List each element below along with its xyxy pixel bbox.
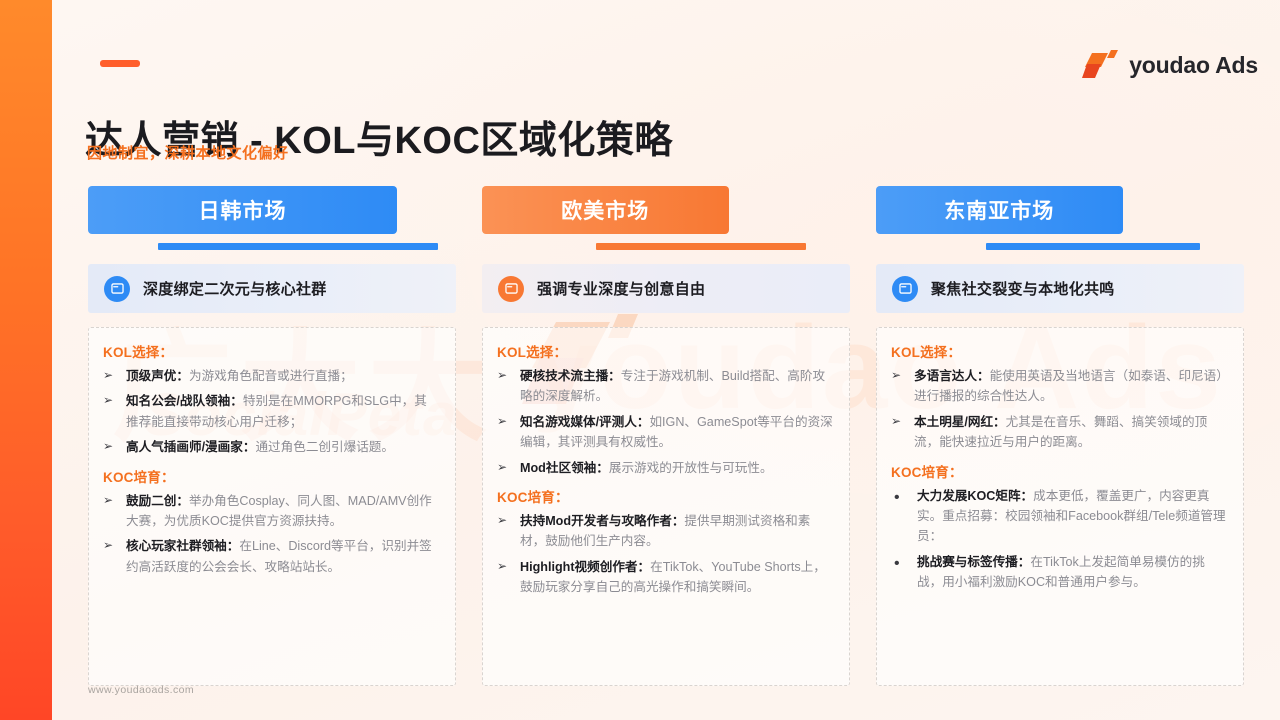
arrow-bullet-icon: ➢ (103, 437, 117, 457)
column-subtitle-label: 强调专业深度与创意自由 (537, 278, 705, 299)
column-chip-europe-america: 欧美市场 (482, 186, 729, 234)
list-item-text: 顶级声优：为游戏角色配音或进行直播； (126, 366, 439, 386)
list-item-text: 知名公会/战队领袖：特别是在MMORPG和SLG中，其推荐能直接带动核心用户迁移… (126, 391, 439, 432)
list-item-text: 多语言达人：能使用英语及当地语言（如泰语、印尼语）进行播报的综合性达人。 (914, 366, 1227, 407)
list-item: •挑战赛与标签传播：在TikTok上发起简单易模仿的挑战，用小福利激励KOC和普… (891, 552, 1227, 593)
list-item-text: Highlight视频创作者：在TikTok、YouTube Shorts上，鼓… (520, 557, 833, 598)
list-item: ➢知名游戏媒体/评测人：如IGN、GameSpot等平台的资深编辑，其评测具有权… (497, 412, 833, 453)
section-title: KOL选择： (103, 341, 439, 361)
column-southeast-asia: 东南亚市场 聚焦社交裂变与本地化共鸣 KOL选择：➢多语言达人：能使用英语及当地… (876, 186, 1244, 686)
left-accent-rail (0, 0, 52, 720)
column-subtitle-bar: 聚焦社交裂变与本地化共鸣 (876, 264, 1244, 313)
list-item: ➢核心玩家社群领袖：在Line、Discord等平台，识别并签约高活跃度的公会会… (103, 536, 439, 577)
list-item: ➢本土明星/网红：尤其是在音乐、舞蹈、搞笑领域的顶流，能快速拉近与用户的距离。 (891, 412, 1227, 453)
column-chip-southeast-asia: 东南亚市场 (876, 186, 1123, 234)
window-icon (892, 276, 918, 302)
list-item: ➢知名公会/战队领袖：特别是在MMORPG和SLG中，其推荐能直接带动核心用户迁… (103, 391, 439, 432)
bullet-list: ➢硬核技术流主播：专注于游戏机制、Build搭配、高阶攻略的深度解析。➢知名游戏… (497, 366, 833, 478)
arrow-bullet-icon: ➢ (103, 391, 117, 432)
list-item-text: 知名游戏媒体/评测人：如IGN、GameSpot等平台的资深编辑，其评测具有权威… (520, 412, 833, 453)
arrow-bullet-icon: ➢ (103, 536, 117, 577)
list-item-text: Mod社区领袖：展示游戏的开放性与可玩性。 (520, 458, 833, 478)
list-item: ➢硬核技术流主播：专注于游戏机制、Build搭配、高阶攻略的深度解析。 (497, 366, 833, 407)
column-subtitle-bar: 强调专业深度与创意自由 (482, 264, 850, 313)
arrow-bullet-icon: ➢ (497, 458, 511, 478)
list-item-term: Mod社区领袖： (520, 461, 609, 475)
youdao-logo-icon (1082, 50, 1118, 80)
arrow-bullet-icon: ➢ (497, 557, 511, 598)
market-columns: 日韩市场 深度绑定二次元与核心社群 KOL选择：➢顶级声优：为游戏角色配音或进行… (52, 186, 1280, 686)
column-subtitle-bar: 深度绑定二次元与核心社群 (88, 264, 456, 313)
list-item: ➢Mod社区领袖：展示游戏的开放性与可玩性。 (497, 458, 833, 478)
column-underline (158, 243, 438, 250)
list-item-term: 挑战赛与标签传播： (917, 555, 1030, 569)
section-title: KOL选择： (497, 341, 833, 361)
list-item-text: 鼓励二创：举办角色Cosplay、同人图、MAD/AMV创作大赛，为优质KOC提… (126, 491, 439, 532)
list-item: ➢鼓励二创：举办角色Cosplay、同人图、MAD/AMV创作大赛，为优质KOC… (103, 491, 439, 532)
column-subtitle-label: 深度绑定二次元与核心社群 (143, 278, 327, 299)
list-item-text: 扶持Mod开发者与攻略作者：提供早期测试资格和素材，鼓励他们生产内容。 (520, 511, 833, 552)
logo-text: youdao Ads (1129, 52, 1258, 79)
arrow-bullet-icon: ➢ (497, 511, 511, 552)
arrow-bullet-icon: ➢ (103, 491, 117, 532)
list-item-term: 顶级声优： (126, 369, 189, 383)
column-underline (986, 243, 1199, 250)
list-item: ➢多语言达人：能使用英语及当地语言（如泰语、印尼语）进行播报的综合性达人。 (891, 366, 1227, 407)
list-item-term: 硬核技术流主播： (520, 369, 621, 383)
list-item: •大力发展KOC矩阵：成本更低，覆盖更广，内容更真实。重点招募：校园领袖和Fac… (891, 486, 1227, 547)
arrow-bullet-icon: ➢ (891, 412, 905, 453)
column-europe-america: 欧美市场 强调专业深度与创意自由 KOL选择：➢硬核技术流主播：专注于游戏机制、… (482, 186, 850, 686)
bullet-list: ➢鼓励二创：举办角色Cosplay、同人图、MAD/AMV创作大赛，为优质KOC… (103, 491, 439, 578)
list-item-text: 核心玩家社群领袖：在Line、Discord等平台，识别并签约高活跃度的公会会长… (126, 536, 439, 577)
list-item-term: Highlight视频创作者： (520, 560, 650, 574)
arrow-bullet-icon: ➢ (103, 366, 117, 386)
dot-bullet-icon: • (891, 552, 908, 593)
arrow-bullet-icon: ➢ (891, 366, 905, 407)
list-item-term: 大力发展KOC矩阵： (917, 489, 1033, 503)
list-item-text: 大力发展KOC矩阵：成本更低，覆盖更广，内容更真实。重点招募：校园领袖和Face… (917, 486, 1227, 547)
list-item: ➢顶级声优：为游戏角色配音或进行直播； (103, 366, 439, 386)
list-item-term: 多语言达人： (914, 369, 990, 383)
list-item-term: 扶持Mod开发者与攻略作者： (520, 514, 684, 528)
list-item: ➢扶持Mod开发者与攻略作者：提供早期测试资格和素材，鼓励他们生产内容。 (497, 511, 833, 552)
arrow-bullet-icon: ➢ (497, 366, 511, 407)
footer-url: www.youdaoads.com (88, 684, 194, 696)
bullet-list: ➢扶持Mod开发者与攻略作者：提供早期测试资格和素材，鼓励他们生产内容。➢Hig… (497, 511, 833, 598)
column-japan-korea: 日韩市场 深度绑定二次元与核心社群 KOL选择：➢顶级声优：为游戏角色配音或进行… (88, 186, 456, 686)
window-icon (104, 276, 130, 302)
list-item-text: 本土明星/网红：尤其是在音乐、舞蹈、搞笑领域的顶流，能快速拉近与用户的距离。 (914, 412, 1227, 453)
bullet-list: ➢多语言达人：能使用英语及当地语言（如泰语、印尼语）进行播报的综合性达人。➢本土… (891, 366, 1227, 453)
section-title: KOC培育： (103, 466, 439, 486)
brand-logo: youdao Ads (1082, 48, 1258, 82)
list-item: ➢高人气插画师/漫画家：通过角色二创引爆话题。 (103, 437, 439, 457)
accent-dash (100, 60, 140, 67)
window-icon (498, 276, 524, 302)
dot-bullet-icon: • (891, 486, 908, 547)
list-item-term: 高人气插画师/漫画家： (126, 440, 255, 454)
column-body-europe-america: KOL选择：➢硬核技术流主播：专注于游戏机制、Build搭配、高阶攻略的深度解析… (482, 327, 850, 686)
list-item-term: 知名公会/战队领袖： (126, 394, 243, 408)
list-item: ➢Highlight视频创作者：在TikTok、YouTube Shorts上，… (497, 557, 833, 598)
list-item-text: 硬核技术流主播：专注于游戏机制、Build搭配、高阶攻略的深度解析。 (520, 366, 833, 407)
list-item-text: 挑战赛与标签传播：在TikTok上发起简单易模仿的挑战，用小福利激励KOC和普通… (917, 552, 1227, 593)
list-item-term: 核心玩家社群领袖： (126, 539, 239, 553)
slide-canvas: 广大大 SocialPeta youdao Ads 达人营销 - KOL与KOC… (52, 0, 1280, 720)
list-item-text: 高人气插画师/漫画家：通过角色二创引爆话题。 (126, 437, 439, 457)
list-item-term: 鼓励二创： (126, 494, 189, 508)
column-body-japan-korea: KOL选择：➢顶级声优：为游戏角色配音或进行直播；➢知名公会/战队领袖：特别是在… (88, 327, 456, 686)
list-item-term: 本土明星/网红： (914, 415, 1006, 429)
bullet-list: •大力发展KOC矩阵：成本更低，覆盖更广，内容更真实。重点招募：校园领袖和Fac… (891, 486, 1227, 593)
column-body-southeast-asia: KOL选择：➢多语言达人：能使用英语及当地语言（如泰语、印尼语）进行播报的综合性… (876, 327, 1244, 686)
section-title: KOC培育： (497, 486, 833, 506)
section-title: KOL选择： (891, 341, 1227, 361)
page-subtitle: 因地制宜，深耕本地文化偏好 (87, 142, 289, 163)
column-subtitle-label: 聚焦社交裂变与本地化共鸣 (931, 278, 1115, 299)
arrow-bullet-icon: ➢ (497, 412, 511, 453)
column-chip-japan-korea: 日韩市场 (88, 186, 397, 234)
column-underline (596, 243, 806, 250)
bullet-list: ➢顶级声优：为游戏角色配音或进行直播；➢知名公会/战队领袖：特别是在MMORPG… (103, 366, 439, 458)
list-item-term: 知名游戏媒体/评测人： (520, 415, 649, 429)
section-title: KOC培育： (891, 461, 1227, 481)
